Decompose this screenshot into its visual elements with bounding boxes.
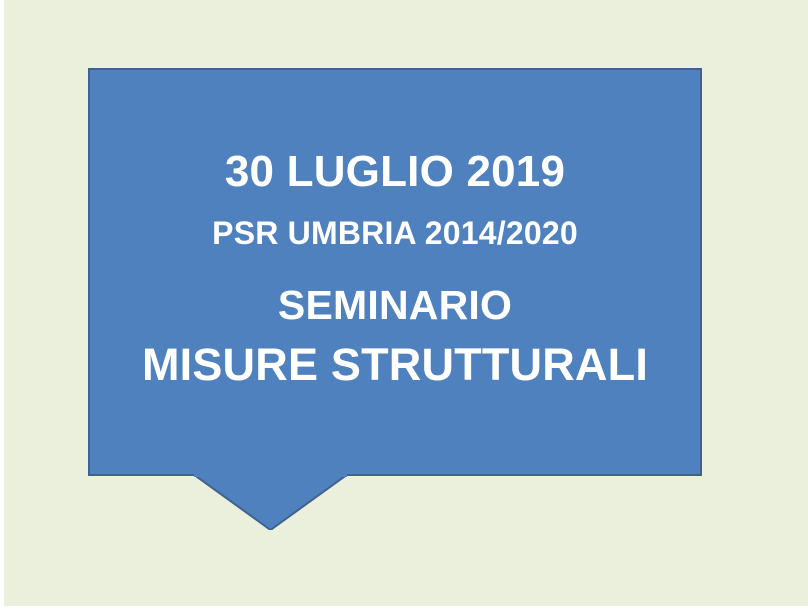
callout-text-block: 30 LUGLIO 2019 PSR UMBRIA 2014/2020 SEMI… bbox=[88, 68, 702, 476]
callout-line-date: 30 LUGLIO 2019 bbox=[225, 149, 565, 195]
slide-canvas: 30 LUGLIO 2019 PSR UMBRIA 2014/2020 SEMI… bbox=[0, 0, 808, 614]
callout-line-programme: PSR UMBRIA 2014/2020 bbox=[212, 217, 578, 250]
announcement-callout: 30 LUGLIO 2019 PSR UMBRIA 2014/2020 SEMI… bbox=[88, 68, 702, 476]
callout-line-event-type: SEMINARIO bbox=[278, 284, 512, 327]
callout-line-event-topic: MISURE STRUTTURALI bbox=[142, 342, 648, 389]
